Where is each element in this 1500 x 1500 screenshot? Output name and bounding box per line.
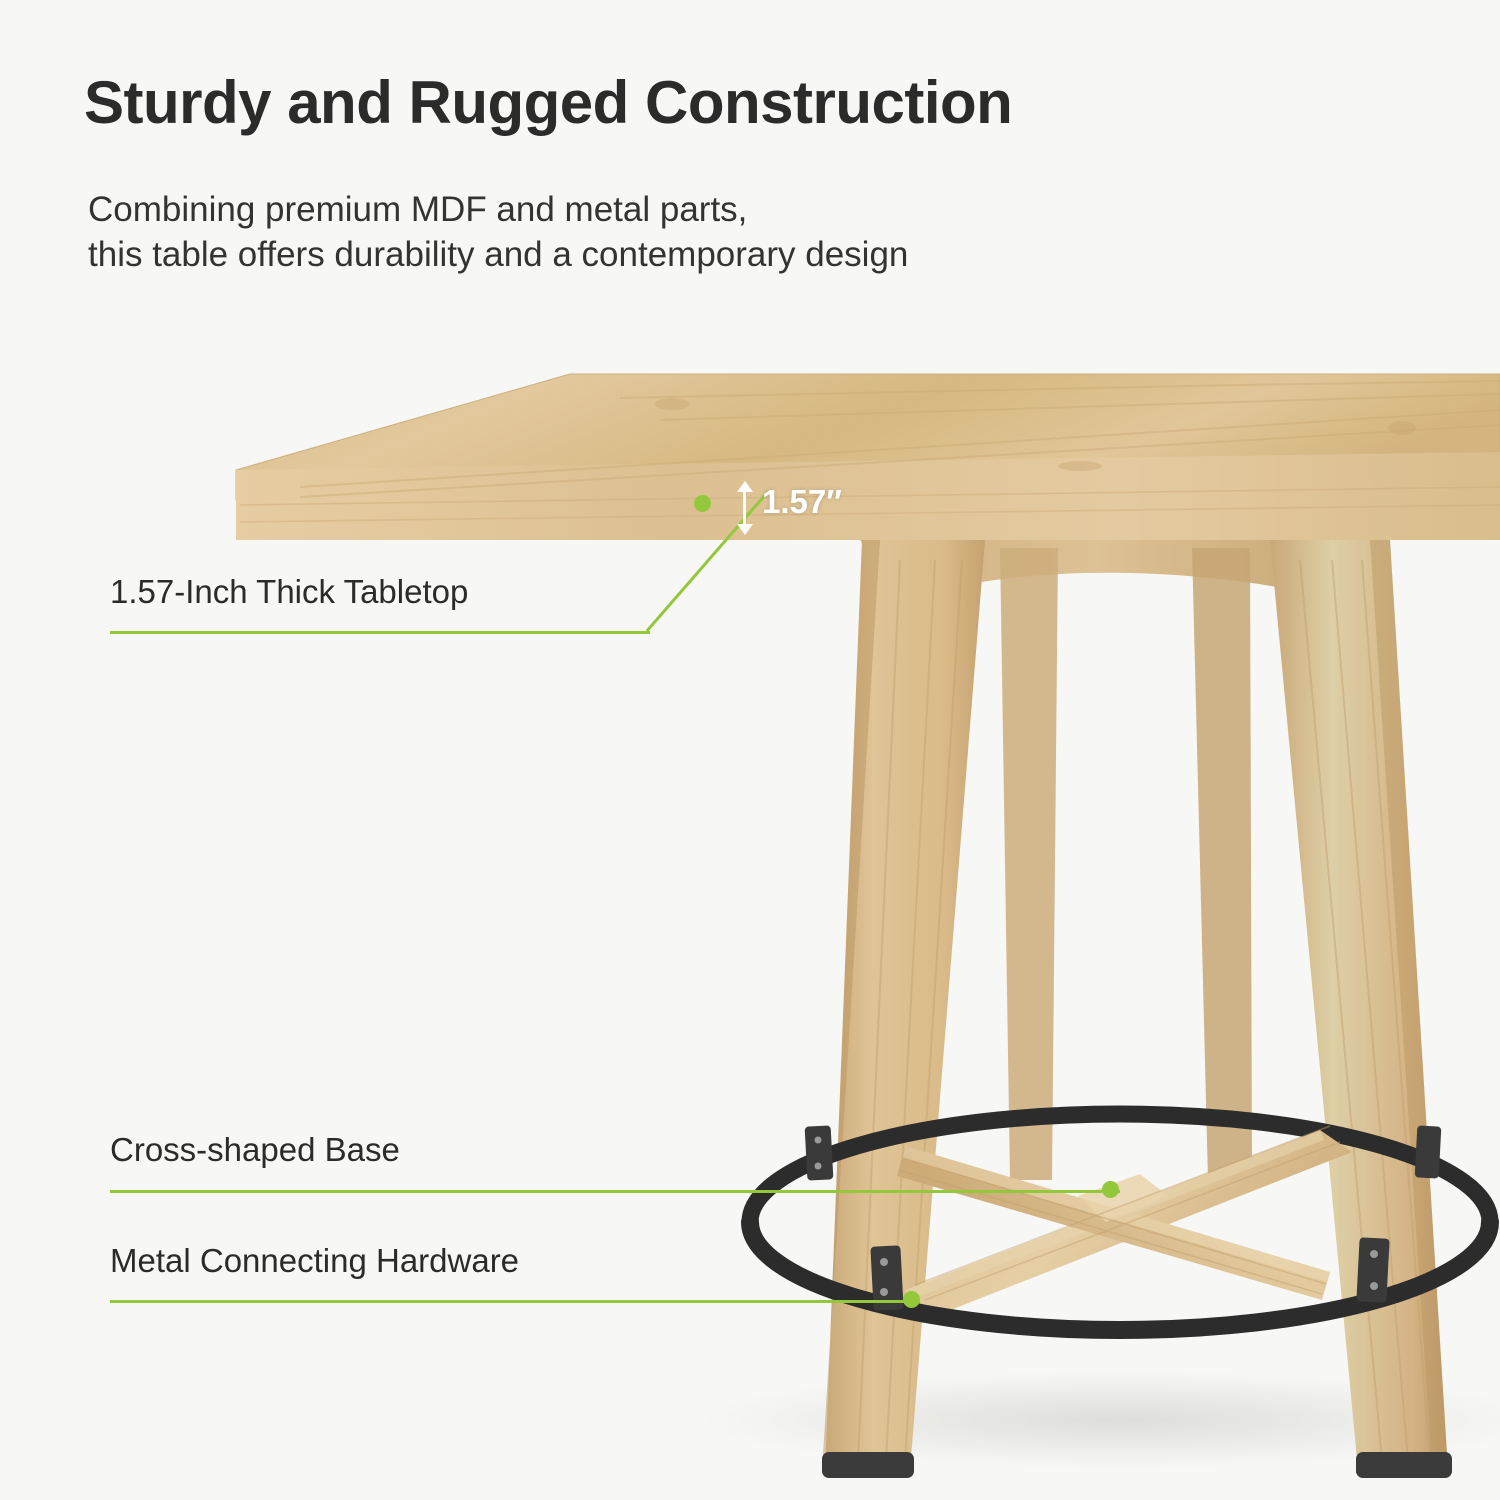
callout-label-cross-base: Cross-shaped Base — [110, 1131, 400, 1169]
callout-dot-metal-hardware — [903, 1291, 920, 1308]
page-title: Sturdy and Rugged Construction — [84, 68, 1012, 137]
page-subtitle: Combining premium MDF and metal parts, t… — [88, 188, 908, 278]
callout-dot-thickness — [694, 495, 711, 512]
callout-label-metal-hardware: Metal Connecting Hardware — [110, 1242, 519, 1280]
callout-label-thickness: 1.57-Inch Thick Tabletop — [110, 573, 468, 611]
callout-dot-cross-base — [1102, 1181, 1119, 1198]
dimension-line — [743, 487, 746, 529]
dimension-value: 1.57″ — [762, 483, 842, 521]
arrow-down-icon — [737, 524, 753, 535]
leader-line-cross-base — [110, 1190, 1120, 1193]
promo-image-root: Sturdy and Rugged Construction Combining… — [0, 0, 1500, 1500]
dimension-arrow — [736, 483, 752, 533]
leader-line-thickness — [110, 631, 650, 634]
leader-line-metal-hardware — [110, 1300, 920, 1303]
